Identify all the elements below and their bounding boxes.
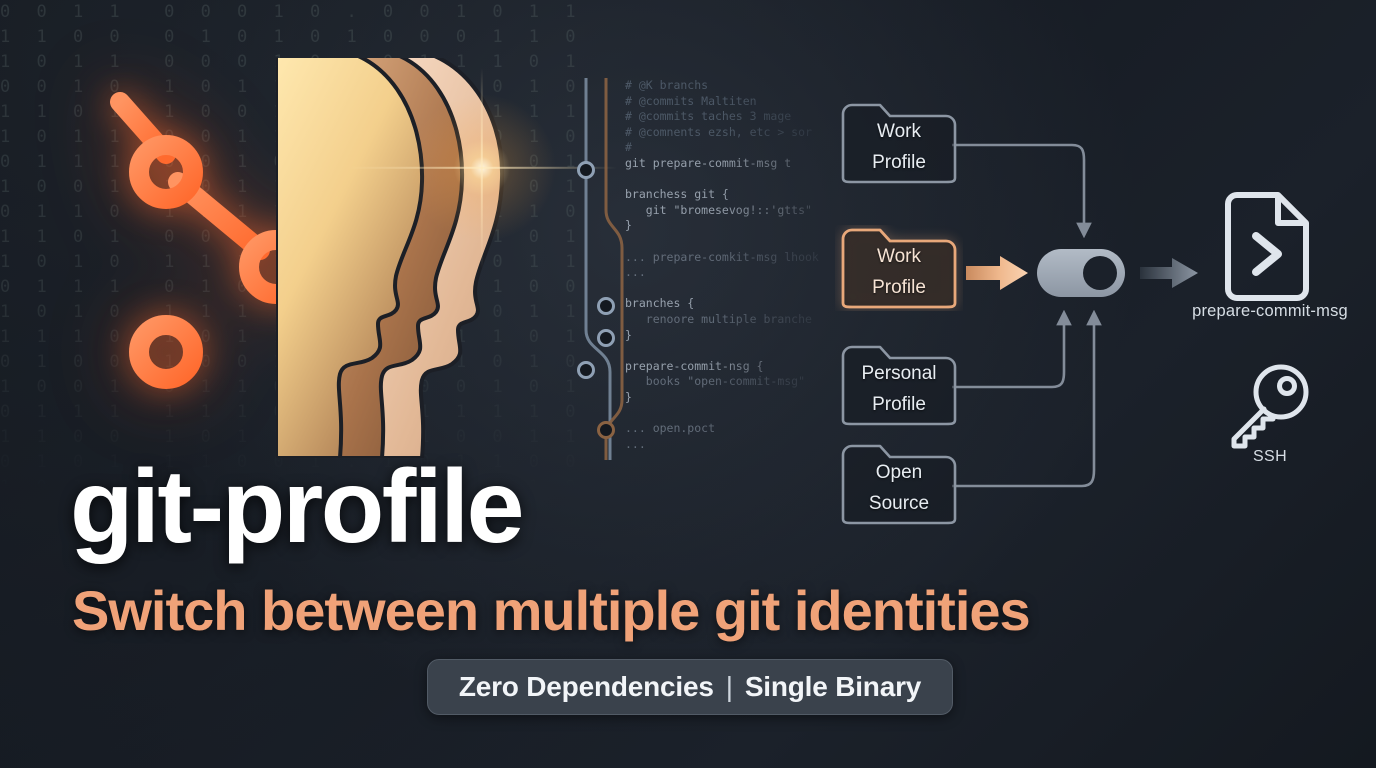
poster-canvas: 0 0 1 1 0 0 0 1 0 . 0 0 1 0 1 1 1 1 0 0 …	[0, 0, 1376, 768]
folder-label-line1: Work	[877, 112, 921, 143]
folder-personal-profile[interactable]: Personal Profile	[835, 342, 963, 428]
folder-label-line2: Profile	[872, 143, 926, 174]
folder-work-profile-inactive[interactable]: Work Profile	[835, 100, 963, 186]
output-label-prepare-commit-msg: prepare-commit-msg	[1150, 302, 1376, 321]
folder-open-source[interactable]: Open Source	[835, 441, 963, 527]
git-graph-lines	[568, 60, 628, 460]
folder-label-line1: Personal	[862, 354, 937, 385]
tagline: Switch between multiple git identities	[72, 583, 1030, 639]
badge-text-right: Single Binary	[745, 671, 921, 703]
folder-label-line2: Source	[869, 484, 929, 515]
badge-text-left: Zero Dependencies	[459, 671, 714, 703]
page-title: git-profile	[70, 455, 522, 559]
folder-work-profile-active[interactable]: Work Profile	[835, 225, 963, 311]
folder-label-line1: Work	[877, 237, 921, 268]
three-face-profiles-illustration	[276, 58, 516, 458]
profile-switch-toggle[interactable]	[1036, 248, 1126, 298]
arrow-to-output-icon	[1140, 257, 1198, 289]
folder-label-line2: Profile	[872, 385, 926, 416]
key-icon	[1224, 362, 1312, 450]
badge-separator: |	[714, 671, 745, 703]
profile-switch-diagram: Work Profile Work Profile Personal Profi…	[820, 80, 1376, 500]
folder-label-line2: Profile	[872, 268, 926, 299]
arrow-to-toggle-icon	[966, 254, 1028, 292]
folder-label-line1: Open	[876, 453, 922, 484]
code-panel: # @K branchs# @commits Maltiten# @commit…	[560, 60, 860, 460]
feature-badge: Zero Dependencies | Single Binary	[427, 659, 953, 715]
output-label-ssh: SSH	[1190, 448, 1350, 466]
document-chevron-icon	[1220, 192, 1312, 302]
